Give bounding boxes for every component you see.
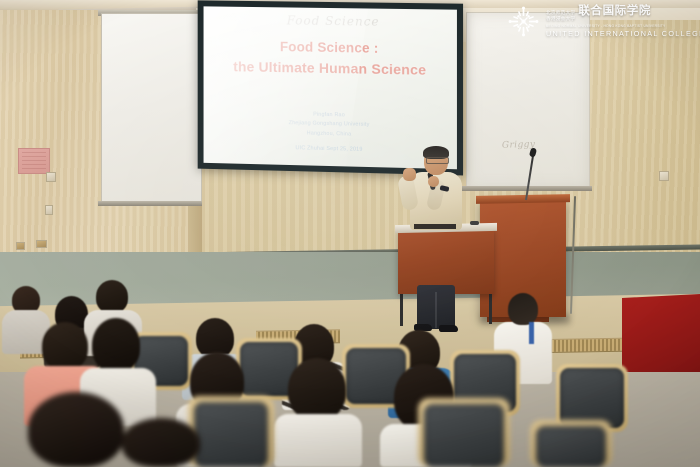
audience-member-10-head (288, 358, 346, 420)
table-leg-right (489, 290, 492, 324)
audience-member-12-head (28, 392, 124, 467)
left-whiteboard (101, 13, 202, 205)
attendee-head (508, 293, 538, 325)
screen-glare (204, 6, 371, 169)
table-leg-left (400, 290, 403, 326)
presenter-shoe-right (439, 325, 458, 332)
uic-snowflake-emblem (508, 6, 539, 37)
presenter-hand (428, 176, 439, 187)
seat-6[interactable] (194, 402, 268, 467)
presenter-leg-split (435, 292, 437, 328)
podium-top (476, 194, 570, 204)
light-switch-2[interactable] (45, 205, 53, 215)
logo-chinese: 北京师范大学 香港浸会大学 联合国际学院 (546, 5, 700, 22)
presenter-belt (414, 224, 456, 229)
seat-7[interactable] (424, 404, 504, 467)
lecture-hall-photo: Griggy Food Science Food Science : the U… (0, 0, 700, 467)
whiteboard-handwriting: Griggy (502, 139, 546, 155)
outlet-5[interactable] (659, 171, 669, 181)
light-switch-1[interactable] (46, 172, 56, 182)
rear-whiteboard (466, 12, 590, 190)
audience-member-3-head (96, 280, 128, 313)
university-logo-watermark: 北京师范大学 香港浸会大学 联合国际学院 BEIJING NORMAL UNIV… (508, 4, 696, 38)
audience-member-7-head (42, 322, 88, 370)
logo-text-block: 北京师范大学 香港浸会大学 联合国际学院 BEIJING NORMAL UNIV… (546, 5, 700, 37)
table-item-remote (470, 221, 479, 225)
outlet-1[interactable] (36, 240, 47, 248)
projection-screen: Food Science Food Science : the Ultimate… (204, 6, 457, 169)
logo-chinese-universities: 北京师范大学 香港浸会大学 (546, 11, 575, 22)
logo-english-college: UNITED INTERNATIONAL COLLEGE (546, 30, 700, 37)
presenter-glasses (426, 157, 449, 164)
audience-member-8-head (92, 318, 140, 372)
pink-notice-poster (18, 148, 50, 174)
presenter-fist (403, 168, 416, 181)
seat-5[interactable] (560, 368, 624, 428)
seat-8[interactable] (536, 426, 606, 467)
logo-english-universities: BEIJING NORMAL UNIVERSITY - HONG KONG BA… (546, 25, 700, 28)
attendee-lanyard (529, 322, 534, 344)
audience-member-13-head (122, 418, 200, 467)
logo-cn-line-2: 香港浸会大学 (546, 17, 575, 23)
outlet-2[interactable] (16, 242, 25, 250)
logo-chinese-college: 联合国际学院 (578, 5, 651, 17)
audience-member-10-body (274, 414, 362, 467)
left-whiteboard-bottom-rail (98, 201, 202, 206)
